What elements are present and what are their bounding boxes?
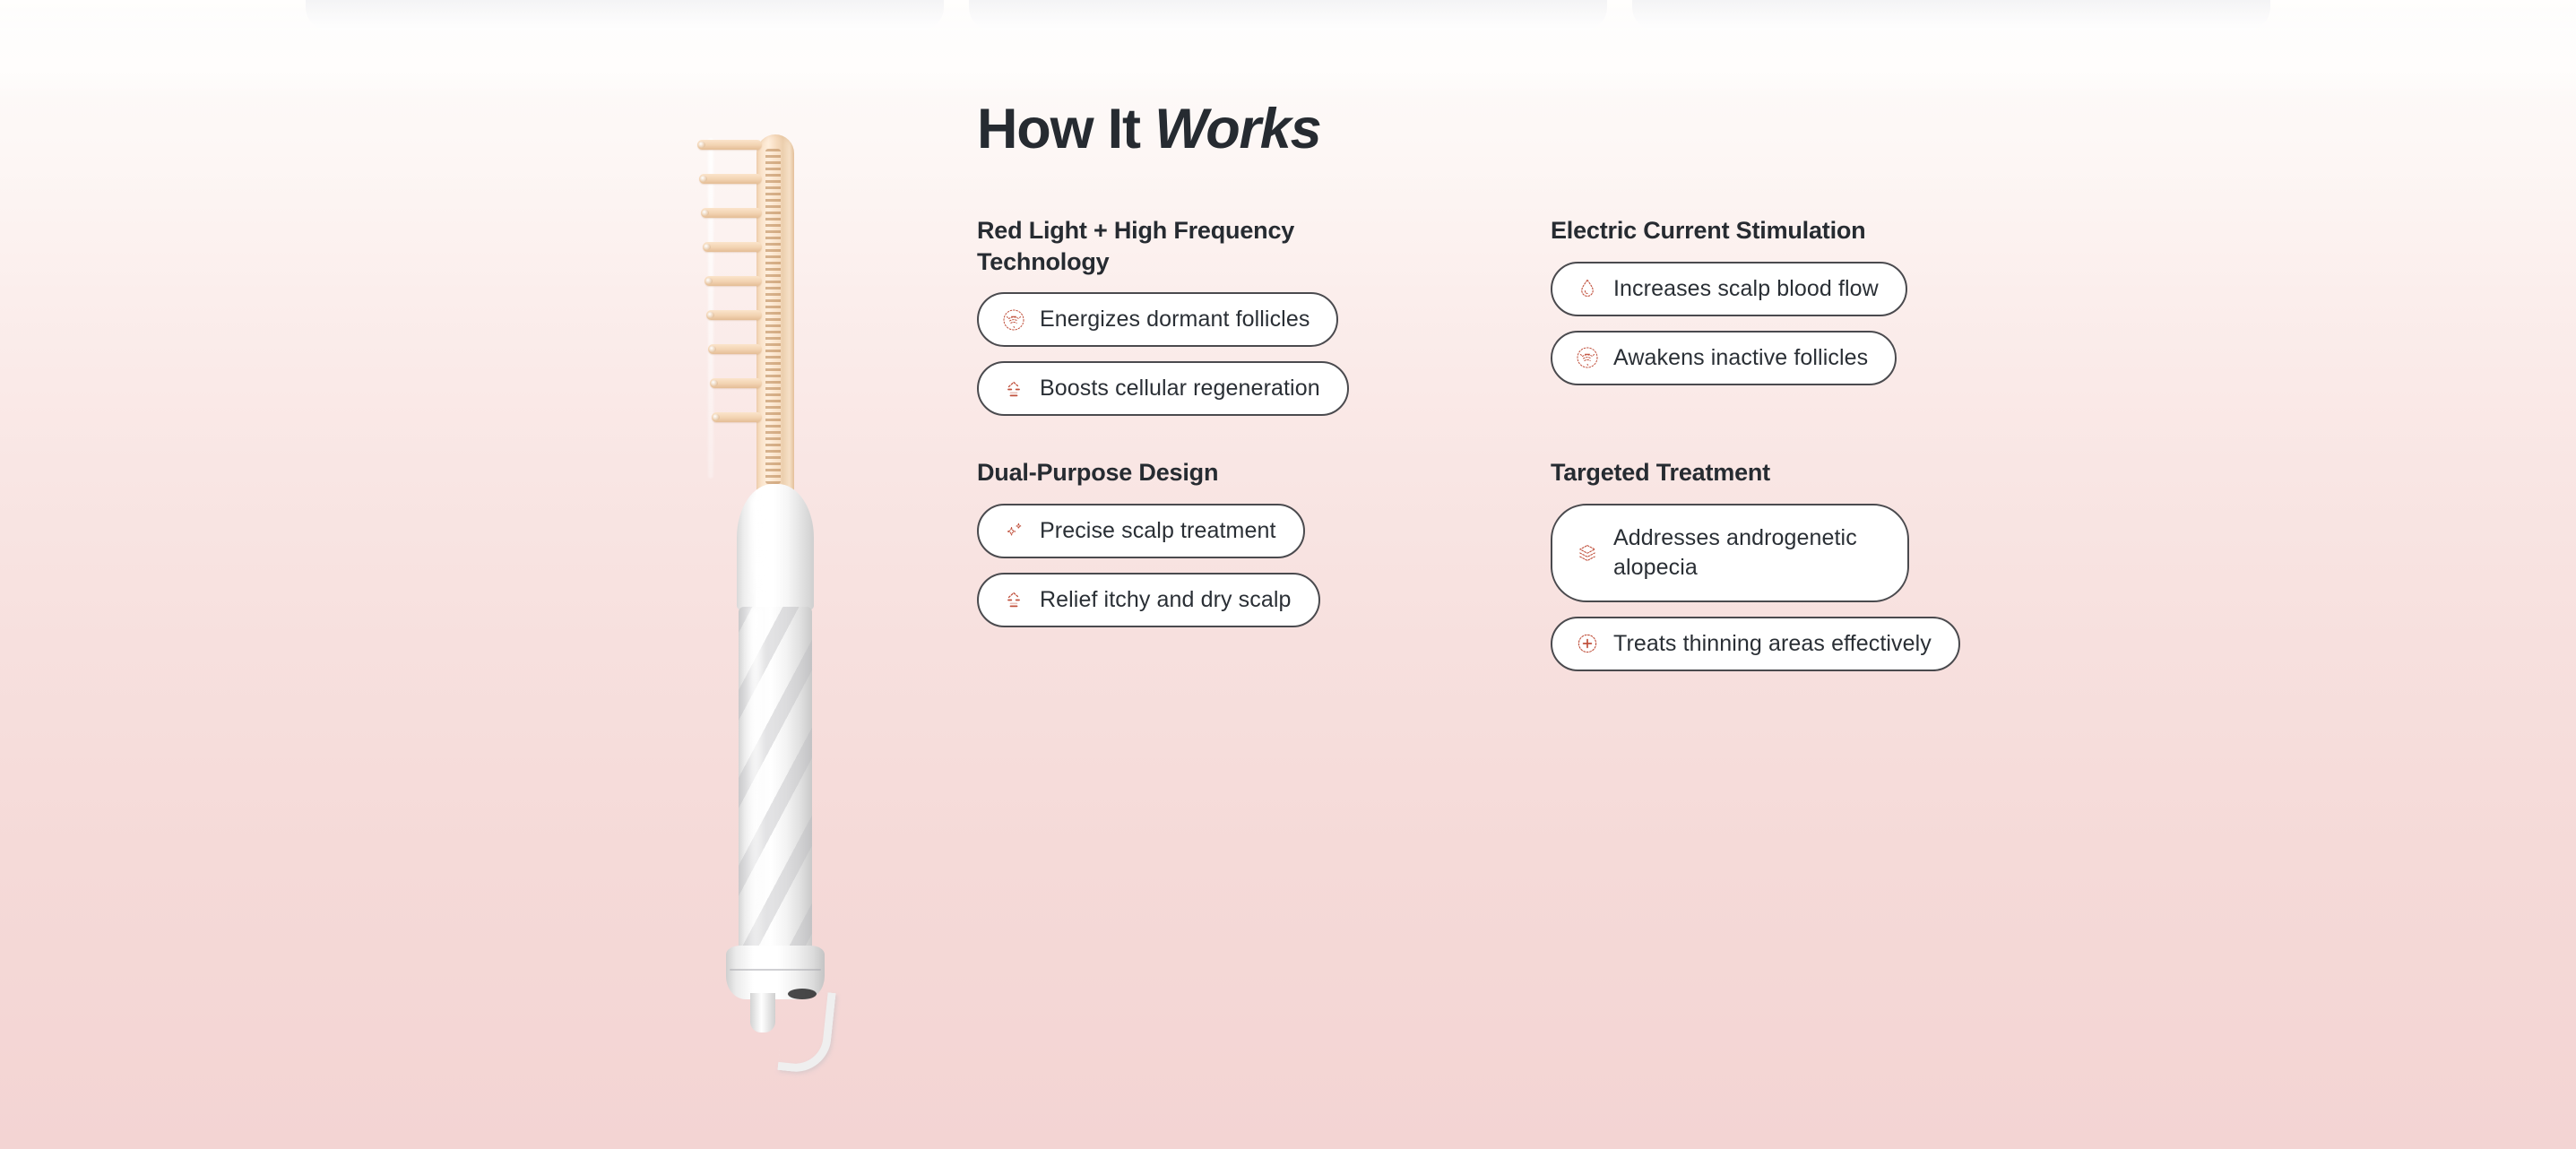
feature-block-red-light: Red Light + High Frequency Technology [977,215,1551,416]
growth-arrow-icon [1000,376,1027,402]
base-stub [750,993,775,1032]
product-image-scalp-wand [681,125,860,1084]
growth-arrow-icon [1000,586,1027,613]
base-seam [730,969,821,971]
feature-grid: Red Light + High Frequency Technology [977,215,2375,671]
comb-tooth [703,242,762,252]
feature-pill[interactable]: Awakens inactive follicles [1551,331,1897,385]
how-it-works-section: How It Works Red Light + High Frequency … [0,0,2576,1149]
feature-pill[interactable]: Addresses androgenetic alopecia [1551,504,1909,602]
feature-pill-label: Relief itchy and dry scalp [1040,585,1292,615]
glass-comb-tube [756,134,794,493]
circle-plus-icon [1574,630,1601,657]
barrel-gloss [749,607,762,956]
feature-pill[interactable]: Boosts cellular regeneration [977,361,1349,416]
comb-tooth [706,310,762,320]
feature-pill[interactable]: Relief itchy and dry scalp [977,573,1320,627]
page-title: How It Works [977,99,2375,160]
block-title: Targeted Treatment [1551,457,1999,488]
block-title: Red Light + High Frequency Technology [977,215,1425,277]
feature-pill-label: Boosts cellular regeneration [1040,374,1320,403]
scalp-waves-icon [1000,307,1027,333]
droplet-icon [1574,275,1601,302]
feature-pill-label: Increases scalp blood flow [1613,274,1879,304]
page-title-emphasis: Works [1154,98,1320,160]
block-title: Electric Current Stimulation [1551,215,1999,246]
feature-pill-label: Addresses androgenetic alopecia [1613,523,1880,583]
previous-card-3 [1632,0,2270,30]
block-title: Dual-Purpose Design [977,457,1425,488]
previous-section-cards-strip [0,0,2576,30]
feature-block-targeted-treatment: Targeted Treatment Addresses androgeneti… [1551,457,2375,671]
feature-pill-label: Energizes dormant follicles [1040,305,1310,334]
previous-card-1 [306,0,944,30]
feature-pill[interactable]: Precise scalp treatment [977,504,1305,558]
page-title-plain: How It [977,98,1154,160]
comb-tooth [697,140,762,150]
handle-grip-barrel [739,607,812,956]
comb-tooth [712,412,762,422]
feature-pill[interactable]: Treats thinning areas effectively [1551,617,1960,671]
feature-block-dual-purpose: Dual-Purpose Design Precise scalp treatm… [977,457,1551,671]
comb-tooth [699,174,762,184]
feature-pill-label: Awakens inactive follicles [1613,343,1868,373]
feature-pill-label: Precise scalp treatment [1040,516,1276,546]
pill-list: Increases scalp blood flow [1551,262,2375,385]
power-cable [777,988,835,1075]
pill-list: Addresses androgenetic alopecia Treats t… [1551,504,2375,671]
feature-pill[interactable]: Increases scalp blood flow [1551,262,1907,316]
comb-tooth [701,208,762,218]
comb-filament [765,149,781,484]
previous-card-2 [969,0,1607,30]
top-fade-overlay [0,0,2576,99]
comb-tooth [710,378,762,388]
content-column: How It Works Red Light + High Frequency … [977,99,2375,671]
layers-icon [1574,540,1601,566]
comb-tooth [705,276,762,286]
feature-pill-label: Treats thinning areas effectively [1613,629,1932,659]
feature-block-electric-current: Electric Current Stimulation Increases s… [1551,215,2375,416]
pill-list: Energizes dormant follicles Boosts cellu… [977,292,1551,416]
scalp-waves-icon [1574,344,1601,371]
pill-list: Precise scalp treatment Relief itchy and [977,504,1551,627]
comb-highlight [708,138,713,479]
feature-pill[interactable]: Energizes dormant follicles [977,292,1338,347]
sparkles-icon [1000,517,1027,544]
handle-neck [737,484,814,611]
comb-tooth [708,344,762,354]
